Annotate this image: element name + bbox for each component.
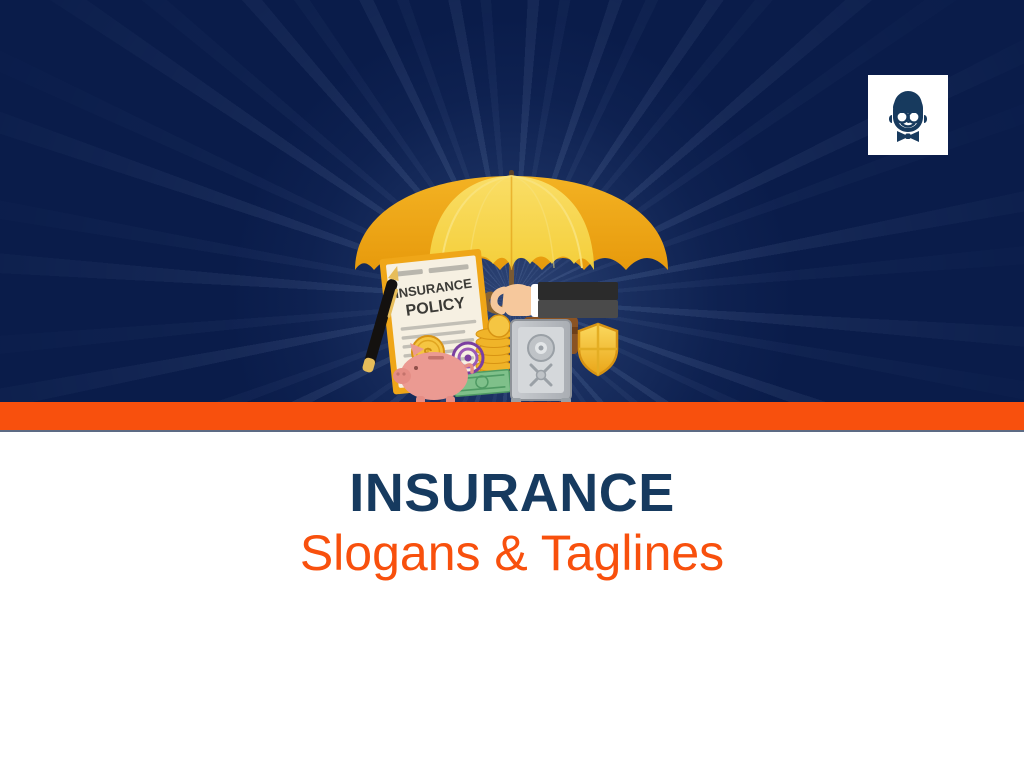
page-title: INSURANCE [0, 432, 1024, 522]
page-subtitle: Slogans & Taglines [0, 522, 1024, 581]
safe-icon [511, 320, 571, 402]
insurance-illustration: INSURANCE POLICY [328, 160, 708, 402]
hand-in-suit-icon [494, 282, 618, 318]
brand-logo[interactable] [868, 75, 948, 155]
shield-icon [577, 324, 619, 376]
title-block: INSURANCE Slogans & Taglines [0, 432, 1024, 581]
accent-band [0, 402, 1024, 432]
hero-banner: INSURANCE POLICY [0, 0, 1024, 402]
accent-band-rays [0, 402, 1024, 432]
boy-face-logo-icon [879, 86, 937, 144]
slide-canvas: INSURANCE POLICY [0, 0, 1024, 768]
